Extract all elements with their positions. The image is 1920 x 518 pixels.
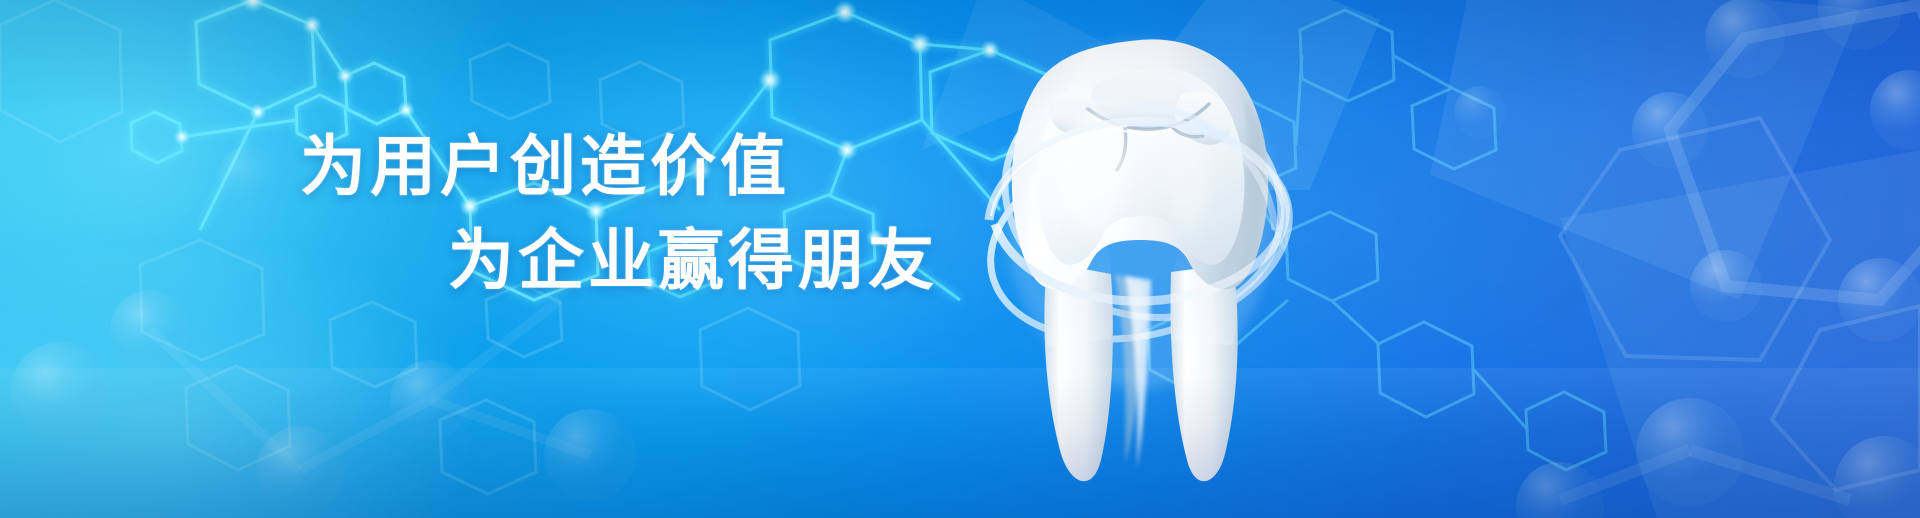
headline-line-2: 为企业赢得朋友 xyxy=(448,228,1000,294)
facet-polygon-4 xyxy=(880,0,1140,150)
facet-polygon-2 xyxy=(1430,0,1860,300)
glossy-floor-reflection xyxy=(0,368,1920,518)
facet-polygon-1 xyxy=(1060,0,1380,190)
molar-tooth-3d xyxy=(975,24,1305,494)
dental-hero-banner: 为用户创造价值 为企业赢得朋友 xyxy=(0,0,1920,518)
facet-polygon-3 xyxy=(1560,150,1920,518)
headline-block: 为用户创造价值 为企业赢得朋友 xyxy=(300,134,1000,294)
headline-line-1: 为用户创造价值 xyxy=(300,134,1000,200)
